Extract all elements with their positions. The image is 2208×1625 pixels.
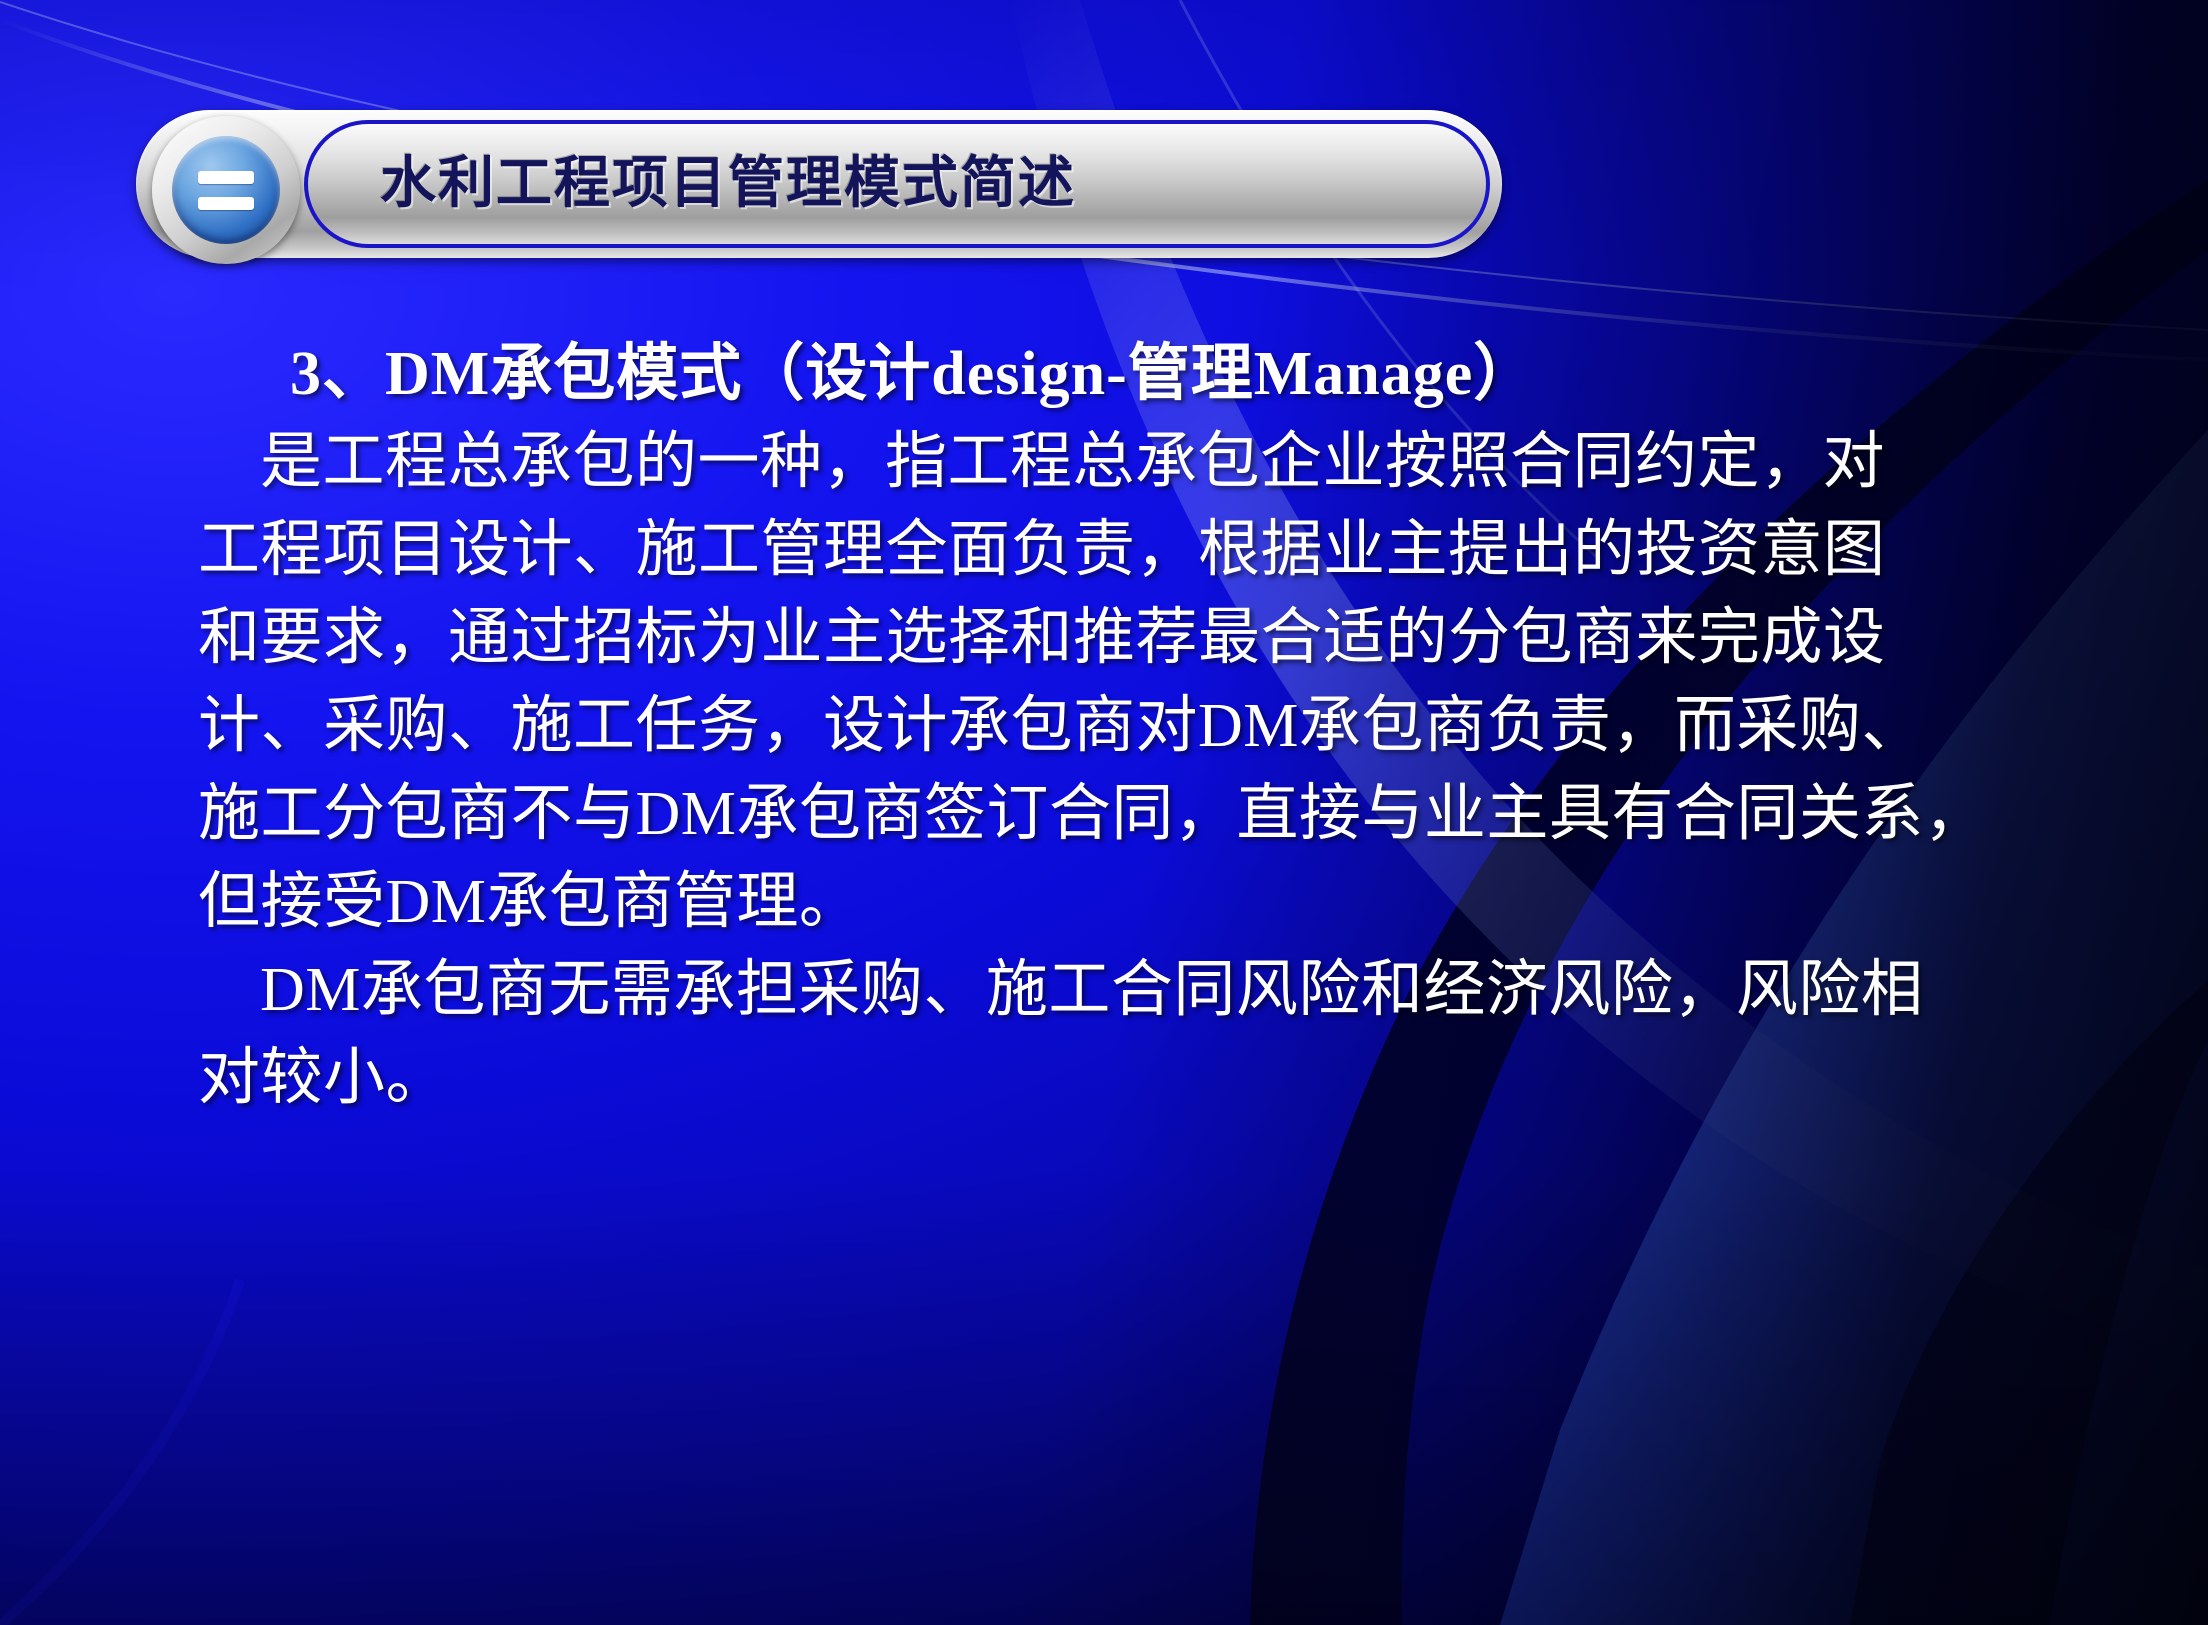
page-title: 水利工程项目管理模式简述 — [380, 156, 1076, 212]
paragraph-1-line-1: 是工程总承包的一种，指工程总承包企业按照合同约定，对 — [198, 418, 2098, 506]
section-heading: 3、DM承包模式（设计design-管理Manage） — [198, 330, 2098, 418]
paragraph-1-line-6: 但接受DM承包商管理。 — [198, 858, 2098, 946]
badge-bar-bottom — [198, 197, 254, 210]
equals-badge-icon — [152, 116, 300, 264]
paragraph-1-line-2: 工程项目设计、施工管理全面负责，根据业主提出的投资意图 — [198, 506, 2098, 594]
slide-canvas: 水利工程项目管理模式简述 3、DM承包模式（设计design-管理Manage）… — [0, 0, 2208, 1625]
paragraph-2-line-1: DM承包商无需承担采购、施工合同风险和经济风险，风险相 — [198, 946, 2098, 1034]
badge-core — [172, 136, 280, 244]
title-inner-plate: 水利工程项目管理模式简述 — [304, 120, 1490, 248]
slide-title-bar: 水利工程项目管理模式简述 — [136, 110, 1502, 258]
slide-body: 3、DM承包模式（设计design-管理Manage） 是工程总承包的一种，指工… — [198, 330, 2098, 1122]
paragraph-1: 是工程总承包的一种，指工程总承包企业按照合同约定，对 工程项目设计、施工管理全面… — [198, 418, 2098, 946]
paragraph-2-line-2: 对较小。 — [198, 1034, 2098, 1122]
paragraph-1-line-3: 和要求，通过招标为业主选择和推荐最合适的分包商来完成设 — [198, 594, 2098, 682]
badge-bar-top — [198, 171, 254, 184]
paragraph-2: DM承包商无需承担采购、施工合同风险和经济风险，风险相 对较小。 — [198, 946, 2098, 1122]
paragraph-1-line-4: 计、采购、施工任务，设计承包商对DM承包商负责，而采购、 — [198, 682, 2098, 770]
paragraph-1-line-5: 施工分包商不与DM承包商签订合同，直接与业主具有合同关系， — [198, 770, 2098, 858]
